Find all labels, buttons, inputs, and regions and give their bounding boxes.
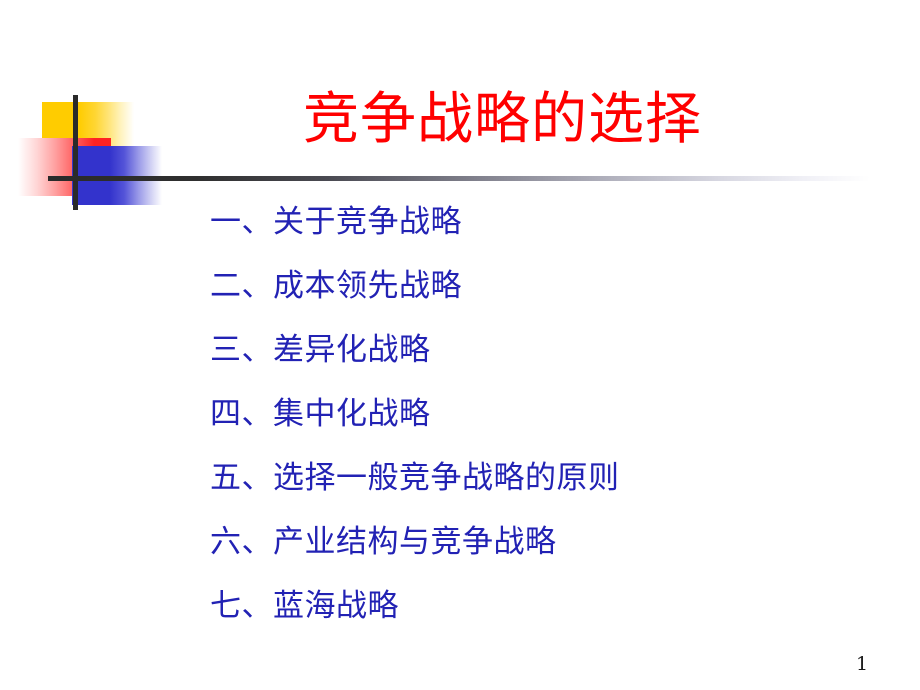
page-title: 竞争战略的选择 [303, 88, 702, 152]
list-item[interactable]: 二、成本领先战略 [210, 270, 910, 334]
page-number: 1 [856, 653, 868, 675]
list-item[interactable]: 七、蓝海战略 [210, 590, 910, 654]
list-item[interactable]: 四、集中化战略 [210, 398, 910, 462]
horizontal-rule [48, 176, 870, 181]
decorative-graphic [0, 80, 170, 230]
outline-list: 一、关于竞争战略 二、成本领先战略 三、差异化战略 四、集中化战略 五、选择一般… [210, 206, 910, 654]
list-item[interactable]: 六、产业结构与竞争战略 [210, 526, 910, 590]
list-item[interactable]: 一、关于竞争战略 [210, 206, 910, 270]
vertical-rule [73, 95, 78, 210]
list-item[interactable]: 三、差异化战略 [210, 334, 910, 398]
list-item[interactable]: 五、选择一般竞争战略的原则 [210, 462, 910, 526]
slide-canvas: 竞争战略的选择 一、关于竞争战略 二、成本领先战略 三、差异化战略 四、集中化战… [0, 0, 920, 690]
